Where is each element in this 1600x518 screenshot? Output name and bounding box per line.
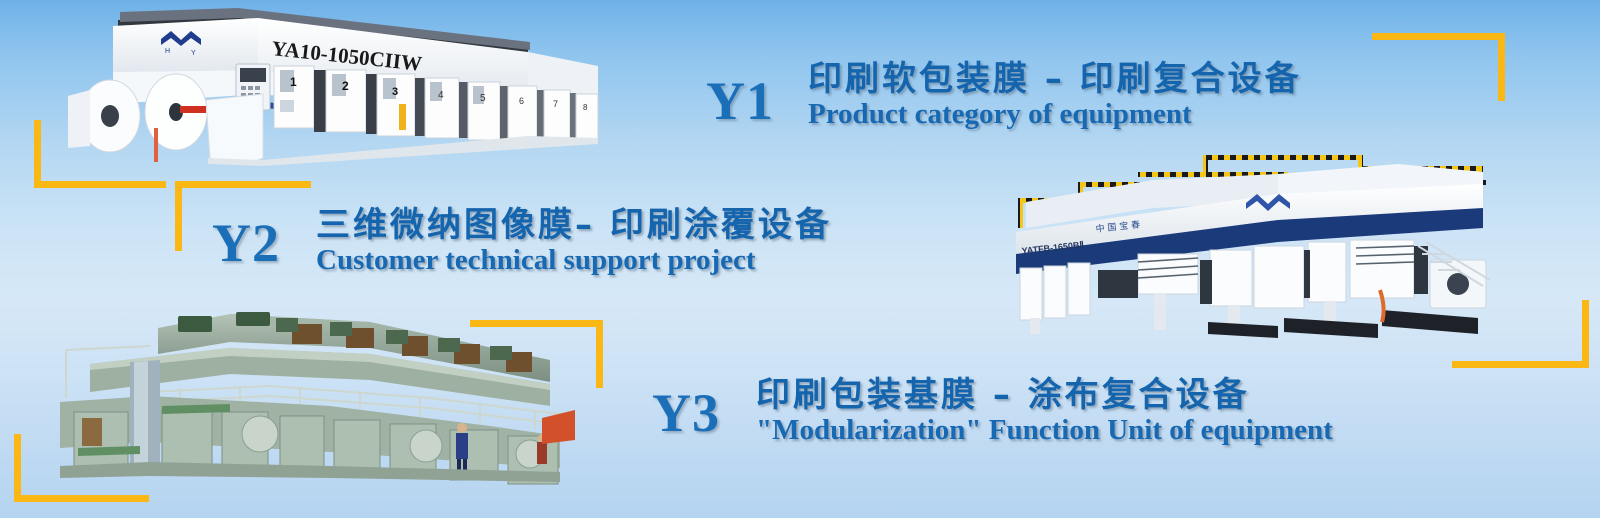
bracket-top-right-horizontal: [1372, 33, 1505, 40]
entry-english-y3: "Modularization" Function Unit of equipm…: [756, 415, 1333, 447]
entry-text-y3: 印刷包装基膜 – 涂布复合设备 "Modularization" Functio…: [756, 378, 1333, 447]
machine-photo-base-film-coating-line: [30, 306, 575, 491]
bracket-top-right-vertical: [1498, 33, 1505, 101]
entry-chinese-y3: 印刷包装基膜 – 涂布复合设备: [756, 378, 1333, 414]
entry-code-y1: Y1: [706, 70, 774, 132]
bracket-top-left-vertical: [34, 120, 41, 188]
machine-photo-coating-laminating-machine: 中 国 宝 春 YATFB-1650BⅡ: [978, 150, 1503, 350]
bracket-y2-top-vertical: [175, 181, 182, 251]
entry-english-y1: Product category of equipment: [808, 99, 1302, 131]
entry-chinese-y1: 印刷软包装膜 – 印刷复合设备: [808, 62, 1302, 98]
bracket-bottom-left-horizontal: [14, 495, 149, 502]
bracket-bottom-left-vertical: [14, 434, 21, 502]
entry-english-y2: Customer technical support project: [316, 245, 832, 277]
svg-text:Y: Y: [191, 50, 196, 57]
svg-text:1: 1: [290, 75, 297, 89]
entry-code-y2: Y2: [212, 212, 280, 274]
entry-chinese-y2: 三维微纳图像膜– 印刷涂覆设备: [316, 208, 832, 244]
entry-text-y1: 印刷软包装膜 – 印刷复合设备 Product category of equi…: [808, 62, 1302, 131]
bracket-mid-left-vertical: [596, 320, 603, 388]
equipment-banner: H Y YA10-1050CIIW 1 2: [0, 0, 1600, 518]
bracket-top-left-horizontal: [34, 181, 166, 188]
svg-text:3: 3: [392, 86, 398, 98]
entry-code-y3: Y3: [652, 382, 720, 444]
machine-photo-rotogravure-printing-press: H Y YA10-1050CIIW 1 2: [58, 8, 603, 173]
svg-text:4: 4: [438, 90, 444, 101]
svg-text:H: H: [165, 48, 170, 55]
bracket-y2-top-horizontal: [175, 181, 311, 188]
svg-text:5: 5: [480, 93, 486, 104]
svg-text:8: 8: [583, 103, 588, 112]
svg-text:6: 6: [519, 96, 524, 106]
bracket-bottom-right-horizontal: [1452, 361, 1589, 368]
bracket-bottom-right-vertical: [1582, 300, 1589, 368]
svg-text:7: 7: [553, 99, 558, 109]
svg-text:2: 2: [342, 79, 349, 93]
entry-text-y2: 三维微纳图像膜– 印刷涂覆设备 Customer technical suppo…: [316, 208, 832, 277]
